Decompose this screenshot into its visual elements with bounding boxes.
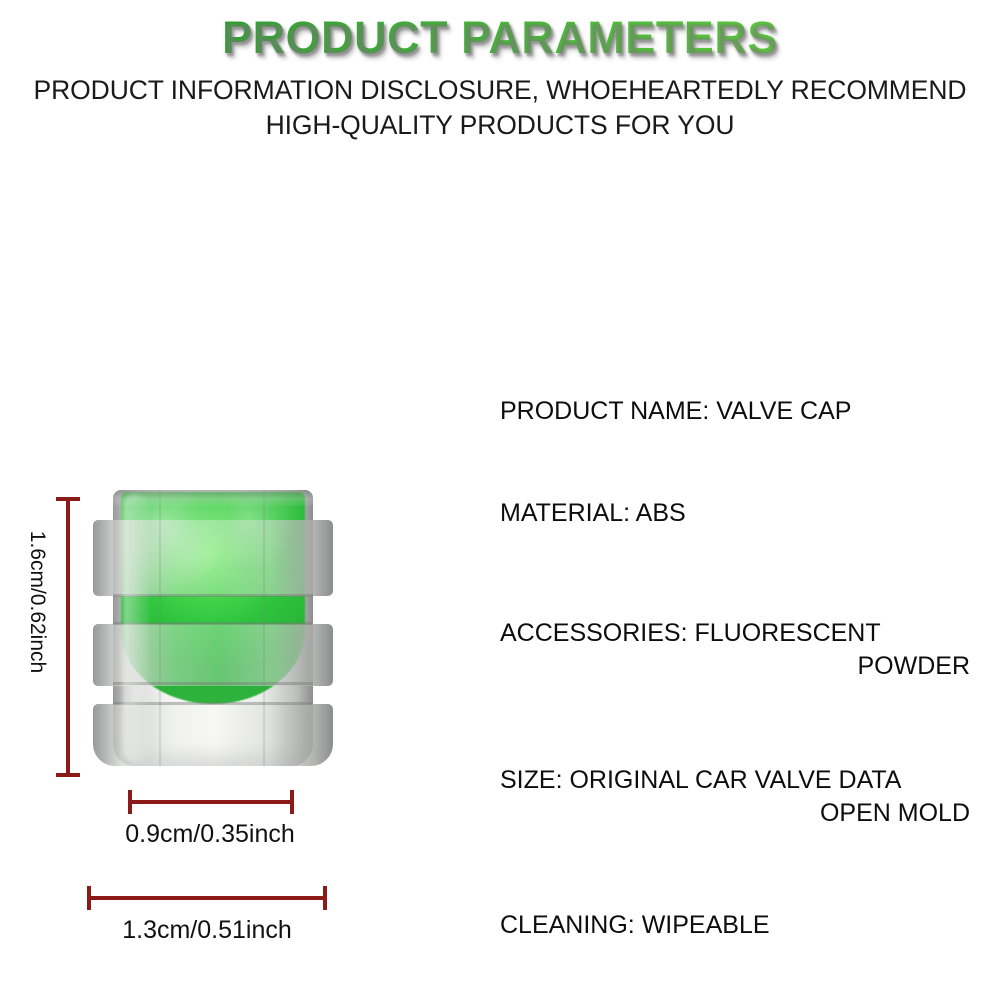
subtitle-line-1: PRODUCT INFORMATION DISCLOSURE, WHOEHEAR…	[0, 73, 1000, 108]
height-dimension-label: 1.6cm/0.62inch	[25, 502, 49, 702]
page-subtitle: PRODUCT INFORMATION DISCLOSURE, WHOEHEAR…	[0, 73, 1000, 143]
spec-size: SIZE: ORIGINAL CAR VALVE DATA	[500, 764, 1000, 797]
outer-width-dimension-label: 1.3cm/0.51inch	[57, 916, 357, 945]
height-dimension-cap-top	[56, 497, 80, 501]
specification-list: PRODUCT NAME: VALVE CAP MATERIAL: ABS AC…	[500, 395, 1000, 1000]
inner-width-dimension-cap-right	[290, 790, 294, 814]
valve-cap-seam-left	[159, 490, 161, 766]
height-dimension-line	[66, 497, 70, 777]
outer-width-dimension-cap-right	[323, 886, 327, 910]
inner-width-dimension-cap-left	[128, 790, 132, 814]
spec-accessories: ACCESSORIES: FLUORESCENT	[500, 617, 1000, 650]
valve-cap-highlight	[123, 494, 149, 762]
spec-product-name: PRODUCT NAME: VALVE CAP	[500, 395, 1000, 428]
spec-accessories-continuation: POWDER	[500, 650, 1000, 683]
spec-cleaning: CLEANING: WIPEABLE	[500, 909, 1000, 942]
product-figure: 1.6cm/0.62inch 0.9cm/0.35inch 1.3cm/0.51…	[0, 455, 470, 965]
page-title: PRODUCT PARAMETERS	[0, 14, 1000, 61]
height-dimension-cap-bottom	[56, 773, 80, 777]
header: PRODUCT PARAMETERS PRODUCT INFORMATION D…	[0, 0, 1000, 144]
spec-size-continuation: OPEN MOLD	[500, 797, 1000, 830]
valve-cap-seam-right	[263, 490, 265, 766]
inner-width-dimension-line	[128, 800, 294, 804]
inner-width-dimension-label: 0.9cm/0.35inch	[60, 820, 360, 849]
product-parameters-page: PRODUCT PARAMETERS PRODUCT INFORMATION D…	[0, 0, 1000, 1000]
spec-material: MATERIAL: ABS	[500, 497, 1000, 530]
subtitle-line-2: HIGH-QUALITY PRODUCTS FOR YOU	[0, 108, 1000, 143]
valve-cap-image	[93, 490, 333, 766]
outer-width-dimension-line	[87, 896, 327, 900]
outer-width-dimension-cap-left	[87, 886, 91, 910]
